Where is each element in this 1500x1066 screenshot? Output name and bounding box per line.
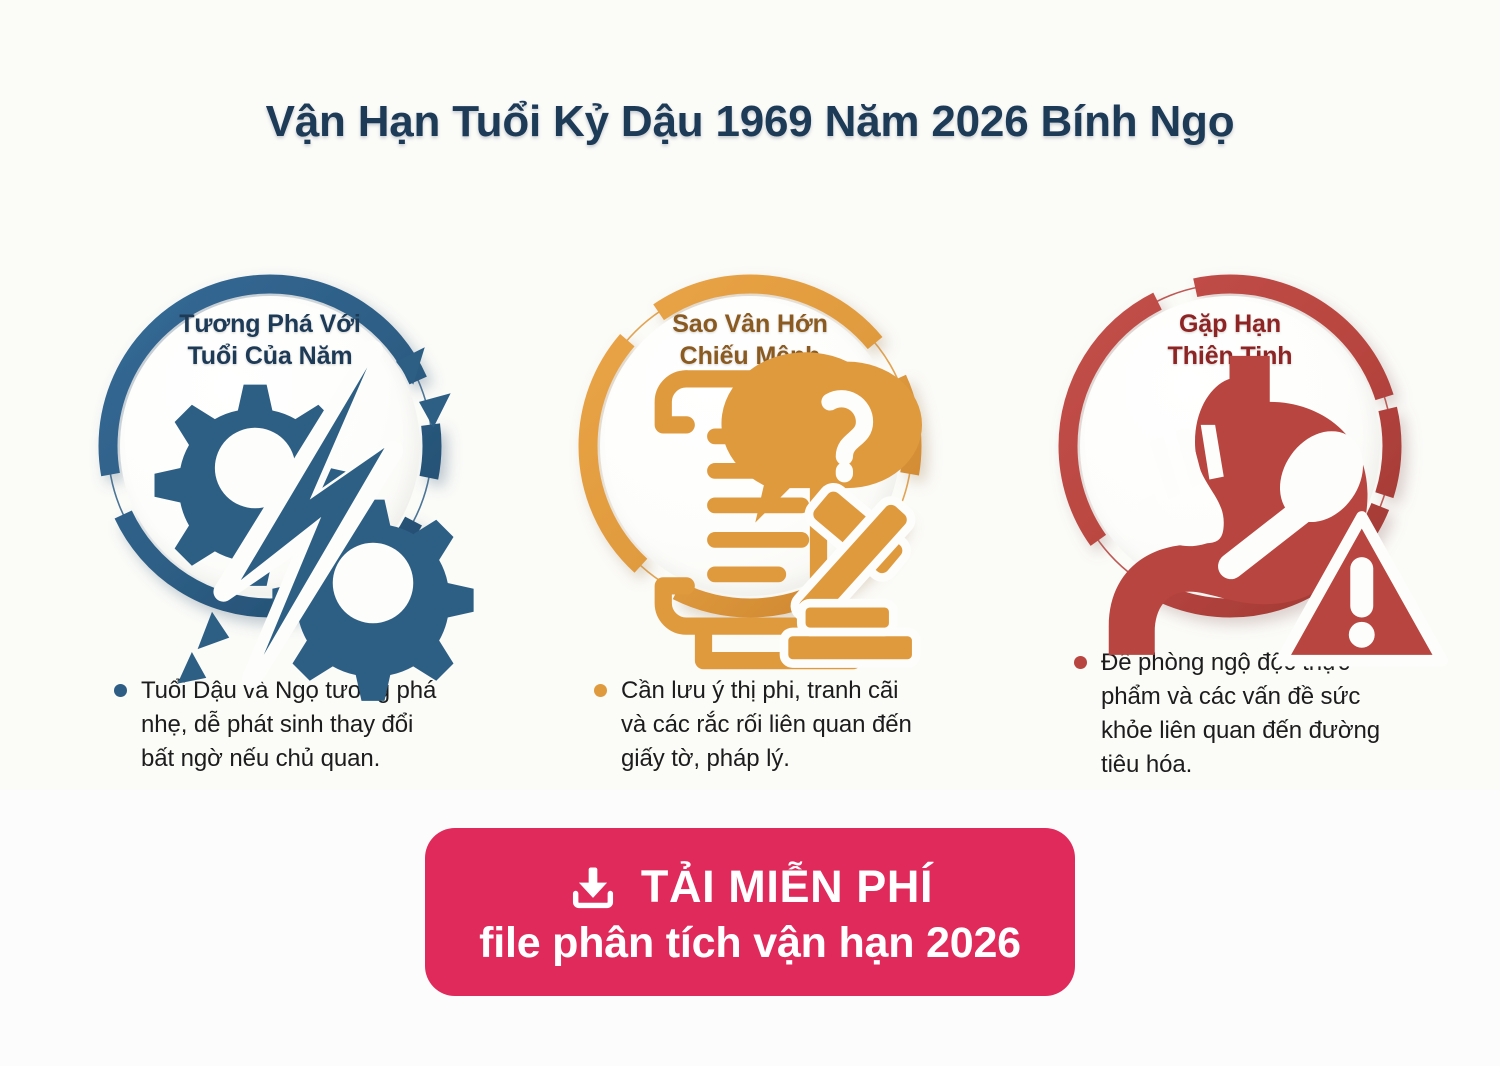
card-tuong-pha: Tương Phá Với Tuổi Của Năm Tuổi Dậu và N… [80,262,460,782]
cta-subtitle: file phân tích vận hạn 2026 [479,919,1021,968]
broken-gears-icon [120,330,488,698]
cards-row: Tương Phá Với Tuổi Của Năm Tuổi Dậu và N… [0,262,1500,782]
card-gap-han-thien-tinh: Gặp Hạn Thiên Tinh Đề phòng ngộ độc thực… [1040,262,1420,782]
badge-face-sao-van-hon: Sao Vân Hớn Chiếu Mệnh [600,296,900,596]
cta-primary-line: TẢI MIỄN PHÍ [567,861,933,913]
badge-face-gap-han: Gặp Hạn Thiên Tinh [1080,296,1380,596]
stomach-food-warning-icon [1080,330,1448,698]
download-cta-button[interactable]: TẢI MIỄN PHÍ file phân tích vận hạn 2026 [425,828,1075,996]
badge-ring-tuong-pha: Tương Phá Với Tuổi Của Năm [86,262,454,630]
download-icon [567,861,619,913]
card-sao-van-hon: Sao Vân Hớn Chiếu Mệnh Cần lưu ý thị phi… [560,262,940,782]
cta-title: TẢI MIỄN PHÍ [641,861,933,913]
badge-ring-sao-van-hon: Sao Vân Hớn Chiếu Mệnh [566,262,934,630]
badge-face-tuong-pha: Tương Phá Với Tuổi Của Năm [120,296,420,596]
infographic-root: Vận Hạn Tuổi Kỷ Dậu 1969 Năm 2026 Bính N… [0,0,1500,1066]
legal-document-gavel-icon [600,330,968,698]
page-title: Vận Hạn Tuổi Kỷ Dậu 1969 Năm 2026 Bính N… [0,97,1500,147]
badge-ring-gap-han: Gặp Hạn Thiên Tinh [1046,262,1414,602]
